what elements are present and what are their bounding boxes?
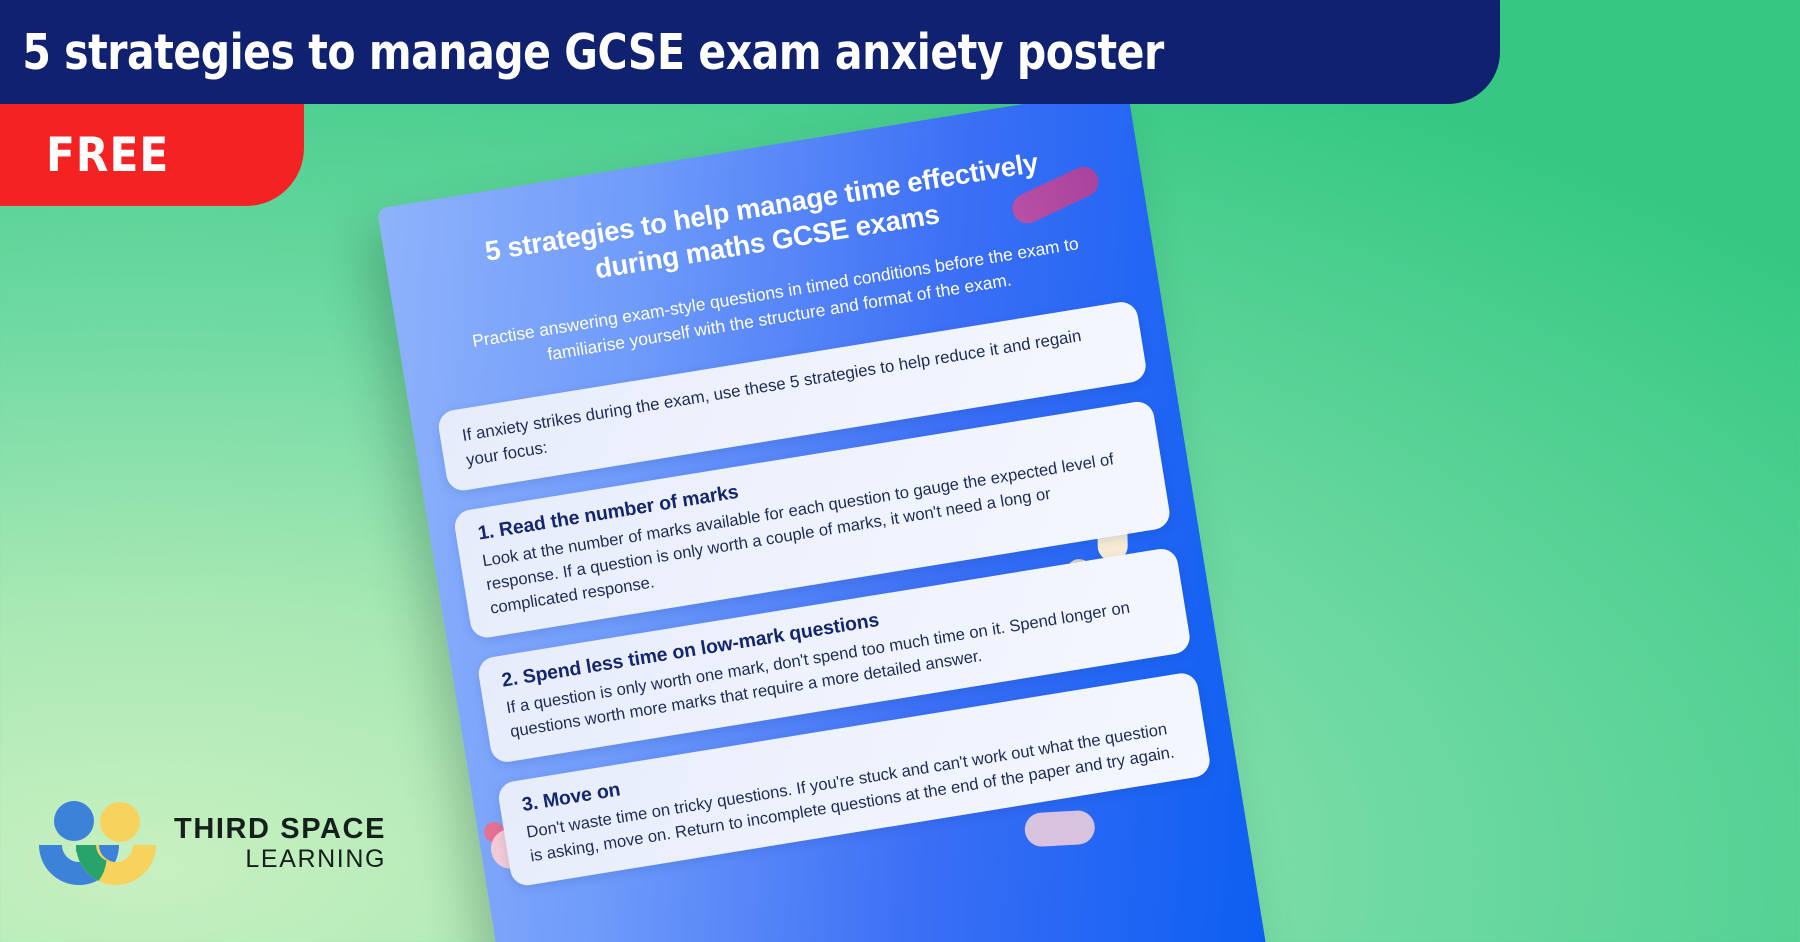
logo-wordmark-line-2: LEARNING	[174, 845, 386, 873]
free-badge: FREE	[0, 104, 304, 206]
third-space-learning-logo[interactable]: THIRD SPACE LEARNING	[38, 800, 386, 886]
decorative-pink-blob-shape-2	[1024, 810, 1096, 848]
two-figures-icon	[38, 800, 156, 886]
logo-wordmark-line-1: THIRD SPACE	[174, 813, 386, 845]
free-badge-label: FREE	[0, 128, 169, 183]
poster-sheet: 5 strategies to help manage time effecti…	[377, 87, 1271, 942]
third-space-learning-logo-icon	[38, 800, 156, 886]
logo-wordmark: THIRD SPACE LEARNING	[174, 813, 386, 873]
page-title: 5 strategies to manage GCSE exam anxiety…	[0, 24, 1164, 81]
page-header-bar: 5 strategies to manage GCSE exam anxiety…	[0, 0, 1500, 104]
poster-preview[interactable]: 5 strategies to help manage time effecti…	[377, 87, 1271, 942]
